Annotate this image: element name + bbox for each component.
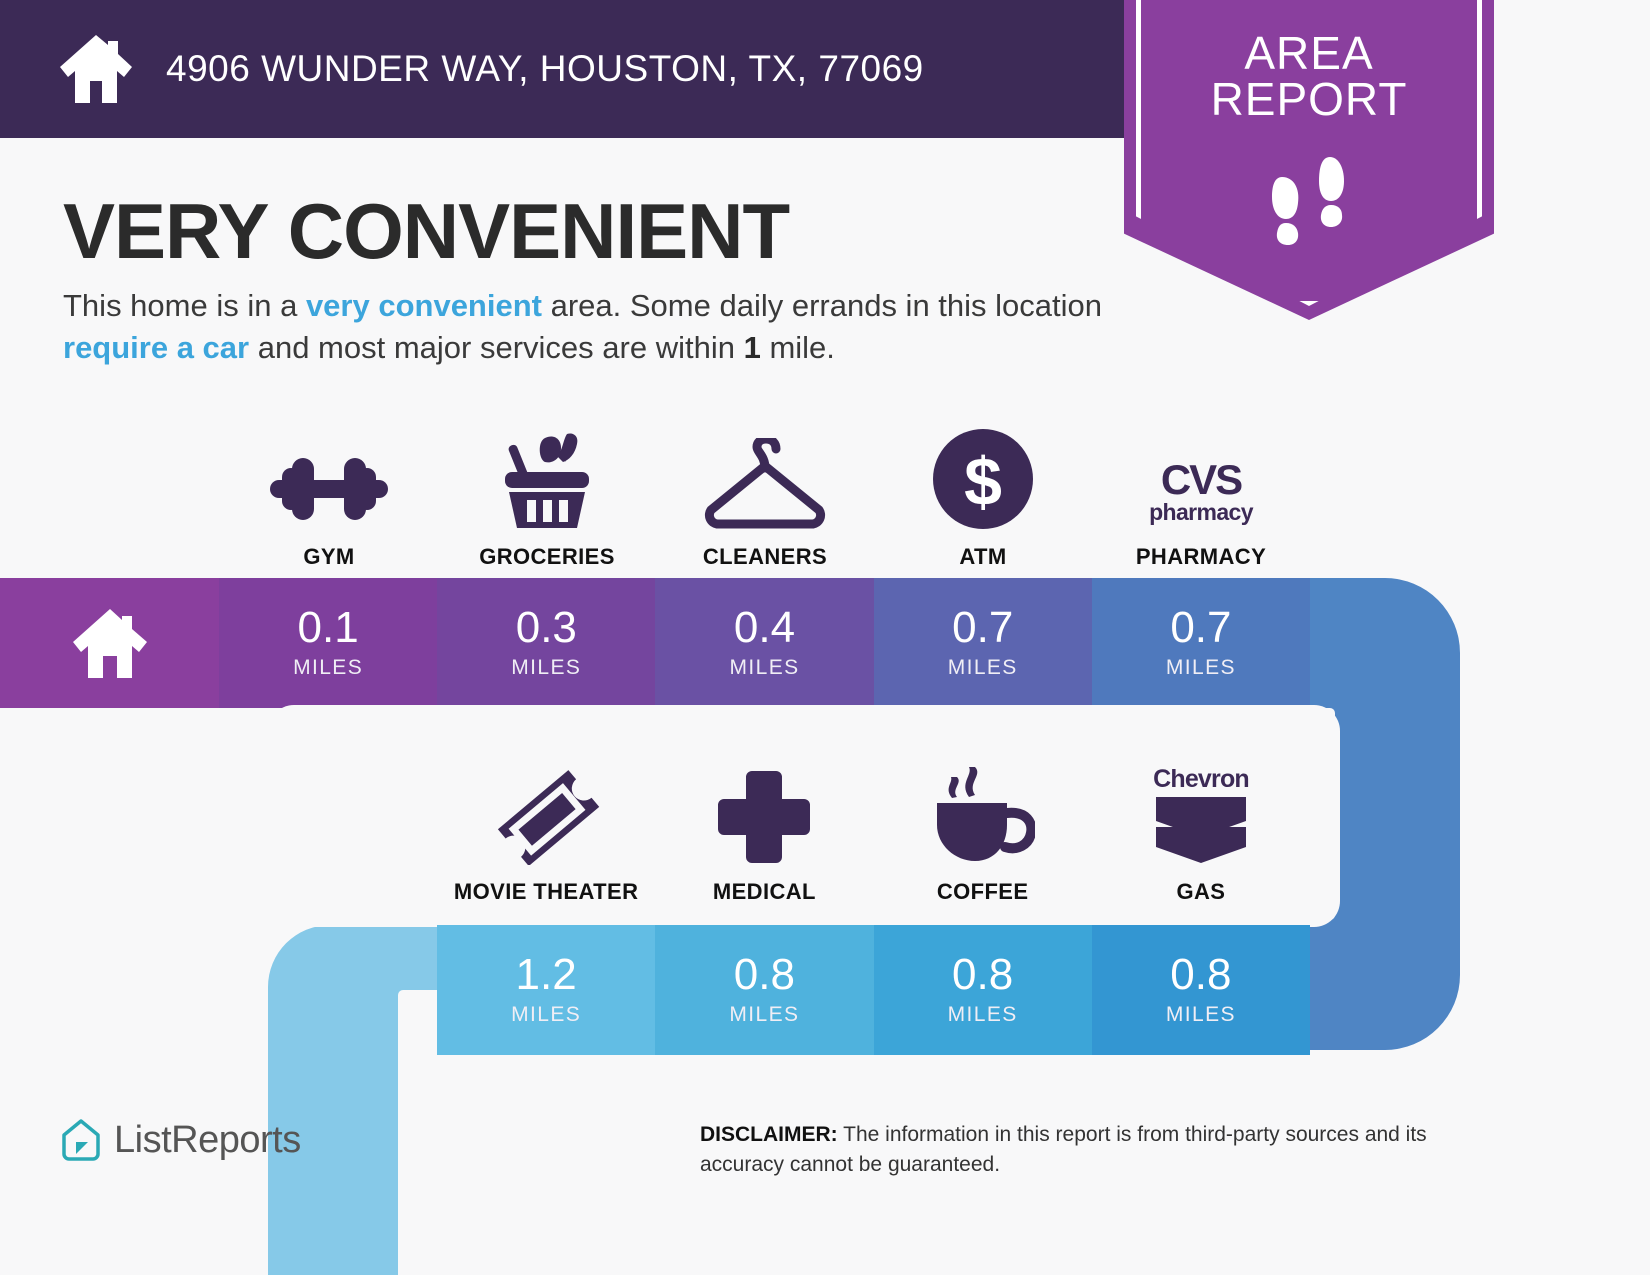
distance-unit: MILES xyxy=(729,1003,799,1027)
row1-icon-strip: GYM GROCERIES CLEANERS xyxy=(220,425,1310,570)
badge-title: AREA REPORT xyxy=(1124,30,1494,122)
category-medical: MEDICAL xyxy=(655,755,873,905)
category-label: CLEANERS xyxy=(703,544,827,570)
house-icon xyxy=(56,33,136,105)
listreports-house-icon xyxy=(60,1118,102,1162)
category-groceries: GROCERIES xyxy=(438,425,656,570)
brand-name: ListReports xyxy=(114,1119,301,1162)
category-gym: GYM xyxy=(220,425,438,570)
distance-unit: MILES xyxy=(511,1003,581,1027)
distance-unit: MILES xyxy=(1166,656,1236,680)
grocery-basket-icon xyxy=(491,430,603,530)
category-pharmacy: CVS pharmacy PHARMACY xyxy=(1092,425,1310,570)
area-report-badge: AREA REPORT xyxy=(1124,0,1494,320)
svg-text:$: $ xyxy=(964,444,1002,520)
distance-unit: MILES xyxy=(293,656,363,680)
category-label: MOVIE THEATER xyxy=(454,879,638,905)
row2-icon-strip: MOVIE THEATER MEDICAL COFFEE Chevron xyxy=(437,755,1310,905)
distance-segment-groceries: 0.3 MILES xyxy=(437,578,655,708)
subtitle-part2: area. Some daily errands in this locatio… xyxy=(542,288,1102,323)
badge-title-line1: AREA xyxy=(1124,30,1494,76)
distance-value: 0.8 xyxy=(1170,953,1231,997)
distance-value: 0.8 xyxy=(952,953,1013,997)
brand-logo: ListReports xyxy=(60,1118,301,1162)
distance-segment-medical: 0.8 MILES xyxy=(655,925,873,1055)
distance-segment-cleaners: 0.4 MILES xyxy=(655,578,873,708)
category-label: GROCERIES xyxy=(479,544,615,570)
disclaimer-label: DISCLAIMER: xyxy=(700,1123,838,1146)
house-icon xyxy=(69,606,151,680)
badge-title-line2: REPORT xyxy=(1124,76,1494,122)
distance-segment-movie-theater: 1.2 MILES xyxy=(437,925,655,1055)
svg-text:Chevron: Chevron xyxy=(1153,765,1249,793)
distance-segment-pharmacy: 0.7 MILES xyxy=(1092,578,1310,708)
category-movie-theater: MOVIE THEATER xyxy=(437,755,655,905)
header-bar: 4906 WUNDER WAY, HOUSTON, TX, 77069 xyxy=(0,0,1133,138)
medical-cross-icon xyxy=(716,765,812,865)
category-label: GYM xyxy=(303,544,354,570)
category-label: ATM xyxy=(959,544,1006,570)
path-left-tail xyxy=(268,925,437,1275)
subtitle-part4: mile. xyxy=(761,330,835,365)
distance-unit: MILES xyxy=(729,656,799,680)
distance-unit: MILES xyxy=(948,1003,1018,1027)
distance-value: 1.2 xyxy=(516,953,577,997)
chevron-logo: Chevron xyxy=(1142,765,1260,865)
page-subtitle: This home is in a very convenient area. … xyxy=(63,285,1108,370)
distance-segment-atm: 0.7 MILES xyxy=(874,578,1092,708)
distance-value: 0.7 xyxy=(1170,606,1231,650)
row2-distance-bar: 1.2 MILES 0.8 MILES 0.8 MILES 0.8 MILES xyxy=(437,925,1310,1055)
svg-text:CVS: CVS xyxy=(1161,456,1242,503)
category-label: MEDICAL xyxy=(713,879,816,905)
subtitle-part1: This home is in a xyxy=(63,288,306,323)
category-label: COFFEE xyxy=(937,879,1029,905)
distance-segment-gas: 0.8 MILES xyxy=(1092,925,1310,1055)
distance-value: 0.1 xyxy=(298,606,359,650)
category-label: PHARMACY xyxy=(1136,544,1266,570)
coffee-cup-icon xyxy=(931,765,1035,865)
category-coffee: COFFEE xyxy=(874,755,1092,905)
distance-value: 0.7 xyxy=(952,606,1013,650)
category-cleaners: CLEANERS xyxy=(656,425,874,570)
distance-segment-coffee: 0.8 MILES xyxy=(874,925,1092,1055)
distance-segment-gym: 0.1 MILES xyxy=(219,578,437,708)
distance-unit: MILES xyxy=(1166,1003,1236,1027)
dollar-circle-icon: $ xyxy=(932,430,1034,530)
row1-distance-bar: 0.1 MILES 0.3 MILES 0.4 MILES 0.7 MILES … xyxy=(0,578,1310,708)
category-label: GAS xyxy=(1176,879,1225,905)
category-gas: Chevron GAS xyxy=(1092,755,1310,905)
distance-value: 0.4 xyxy=(734,606,795,650)
subtitle-part3: and most major services are within xyxy=(249,330,743,365)
svg-text:pharmacy: pharmacy xyxy=(1149,499,1254,525)
cvs-pharmacy-logo: CVS pharmacy xyxy=(1131,430,1271,530)
clothes-hanger-icon xyxy=(701,430,829,530)
footprints-icon xyxy=(1264,155,1354,247)
distance-unit: MILES xyxy=(511,656,581,680)
movie-ticket-icon xyxy=(492,765,600,865)
page-title: VERY CONVENIENT xyxy=(63,186,789,277)
subtitle-highlight2: require a car xyxy=(63,330,249,365)
subtitle-highlight1: very convenient xyxy=(306,288,542,323)
distance-unit: MILES xyxy=(948,656,1018,680)
distance-value: 0.8 xyxy=(734,953,795,997)
disclaimer: DISCLAIMER: The information in this repo… xyxy=(700,1120,1510,1180)
subtitle-highlight3: 1 xyxy=(744,330,761,365)
property-address: 4906 WUNDER WAY, HOUSTON, TX, 77069 xyxy=(166,48,924,90)
home-marker-segment xyxy=(0,578,219,708)
category-atm: $ ATM xyxy=(874,425,1092,570)
distance-value: 0.3 xyxy=(516,606,577,650)
dumbbell-icon xyxy=(270,430,388,530)
